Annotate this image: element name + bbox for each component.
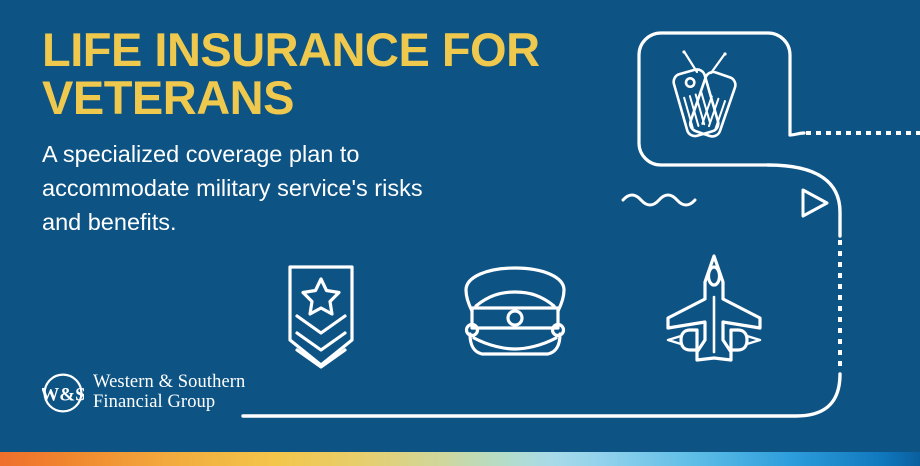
- bottom-gradient-bar: [0, 452, 920, 466]
- brand-logo[interactable]: W&S Western & Southern Financial Group: [42, 372, 245, 414]
- brand-wordmark: Western & Southern Financial Group: [93, 373, 245, 413]
- page-title: Life Insurance for Veterans: [42, 26, 582, 122]
- svg-text:W&S: W&S: [42, 385, 84, 406]
- page-subtitle: A specialized coverage plan to accommoda…: [42, 137, 512, 239]
- life-insurance-veterans-banner: Life Insurance for Veterans A specialize…: [0, 0, 920, 466]
- ws-monogram-icon: W&S: [42, 372, 84, 414]
